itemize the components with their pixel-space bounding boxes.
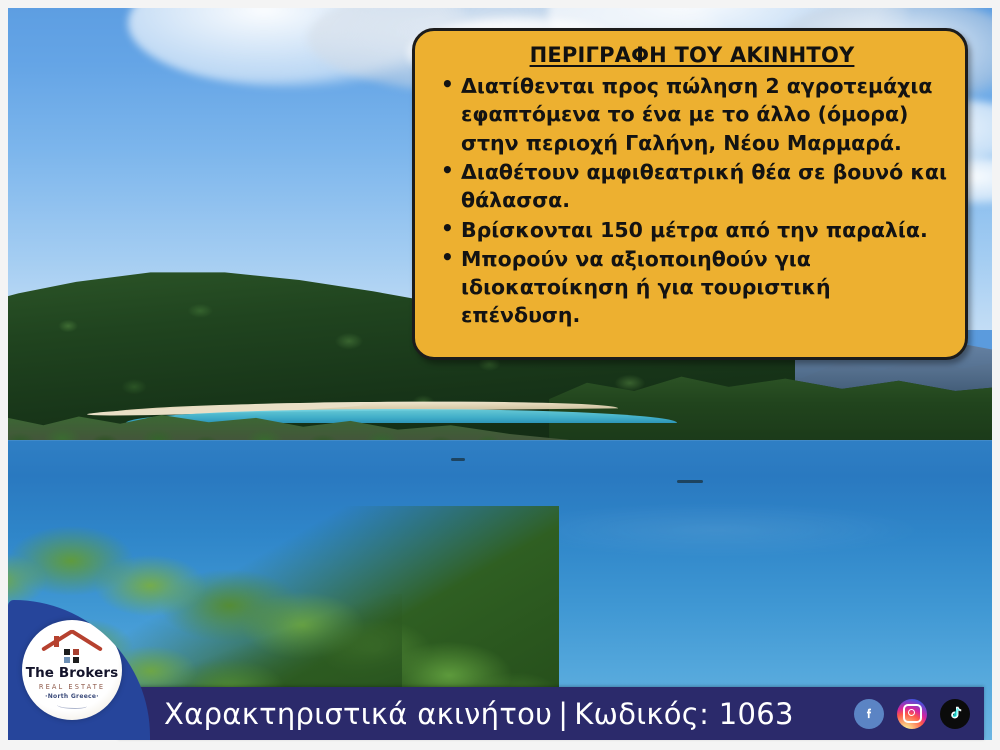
facebook-glyph: [861, 706, 877, 722]
boat: [451, 458, 465, 461]
caption-main: Χαρακτηριστικά ακινήτου: [164, 697, 552, 731]
caption-separator: |: [552, 697, 574, 731]
window-square: [64, 657, 70, 663]
signature-flourish: [57, 702, 87, 709]
caption-text: Χαρακτηριστικά ακινήτου|Κωδικός: 1063: [164, 697, 794, 731]
boat: [677, 480, 703, 483]
instagram-icon[interactable]: [897, 699, 927, 729]
brand-name: The Brokers: [26, 665, 118, 681]
window-square: [73, 657, 79, 663]
house-icon: [41, 634, 103, 664]
brand-tagline: REAL ESTATE: [39, 683, 105, 691]
roof-right-shape: [71, 629, 103, 651]
list-item: Μπορούν να αξιοποιηθούν για ιδιοκατοίκησ…: [459, 245, 947, 330]
brand-region: ·North Greece·: [45, 693, 99, 700]
roof-left-shape: [41, 629, 73, 651]
brand-logo: The Brokers REAL ESTATE ·North Greece·: [22, 620, 122, 720]
instagram-glyph: [903, 704, 922, 723]
poster-root: ΠΕΡΙΓΡΑΦΗ ΤΟΥ ΑΚΙΝΗΤΟΥ Διατίθενται προς …: [0, 0, 1000, 750]
caption-code: Κωδικός: 1063: [574, 697, 793, 731]
social-links: [854, 699, 970, 729]
window-square: [73, 649, 79, 655]
description-title: ΠΕΡΙΓΡΑΦΗ ΤΟΥ ΑΚΙΝΗΤΟΥ: [433, 43, 951, 68]
list-item: Διαθέτουν αμφιθεατρική θέα σε βουνό και …: [459, 158, 947, 215]
tiktok-glyph: [947, 705, 964, 722]
list-item: Διατίθενται προς πώληση 2 αγροτεμάχια εφ…: [459, 72, 947, 157]
facebook-icon[interactable]: [854, 699, 884, 729]
list-item: Βρίσκονται 150 μέτρα από την παραλία.: [459, 216, 947, 244]
property-description-box: ΠΕΡΙΓΡΑΦΗ ΤΟΥ ΑΚΙΝΗΤΟΥ Διατίθενται προς …: [412, 28, 968, 360]
bottom-caption-bar: Χαρακτηριστικά ακινήτου|Κωδικός: 1063: [118, 687, 984, 740]
tiktok-icon[interactable]: [940, 699, 970, 729]
description-bullet-list: Διατίθενται προς πώληση 2 αγροτεμάχια εφ…: [433, 72, 951, 330]
window-square: [64, 649, 70, 655]
